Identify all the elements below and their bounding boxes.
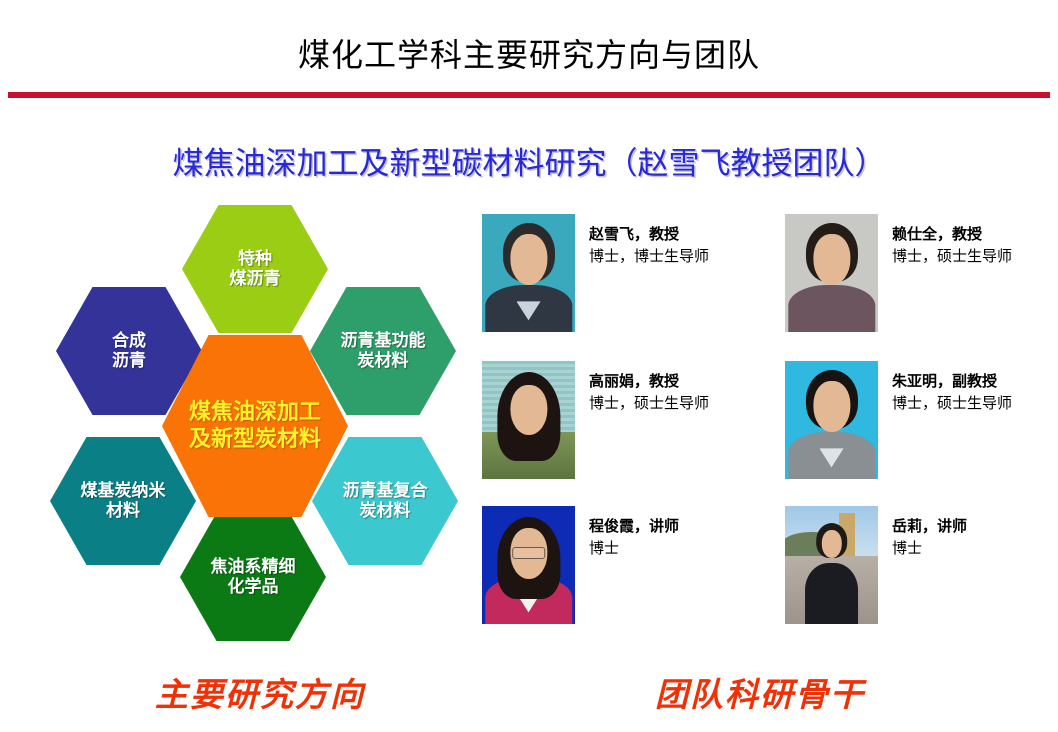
hex-branch-coal-carbon-nano[interactable]: 煤基炭纳米 材料: [50, 437, 196, 565]
caption-research-directions: 主要研究方向: [155, 668, 365, 716]
member-degree: 博士，硕士生导师: [589, 393, 709, 415]
hex-label-line1: 沥青基功能: [341, 331, 426, 351]
hex-label-line1: 合成: [112, 331, 146, 351]
team-member-text: 赖仕全，教授 博士，硕士生导师: [892, 214, 1012, 268]
member-name: 朱亚明，副教授: [892, 371, 1012, 393]
member-degree: 博士: [589, 538, 679, 560]
member-degree: 博士: [892, 538, 967, 560]
portrait-zhao-xuefei: [482, 214, 575, 332]
hex-label-line2: 煤沥青: [230, 269, 281, 289]
team-member-card[interactable]: 程俊霞，讲师 博士: [482, 506, 679, 624]
page-title: 煤化工学科主要研究方向与团队: [0, 30, 1058, 76]
member-degree: 博士，硕士生导师: [892, 246, 1012, 268]
hex-label-line1: 煤基炭纳米: [81, 481, 166, 501]
title-divider: [8, 92, 1050, 98]
hex-center-line2: 及新型炭材料: [189, 426, 321, 454]
team-member-text: 程俊霞，讲师 博士: [589, 506, 679, 560]
hex-label-line2: 沥青: [112, 351, 146, 371]
member-name: 高丽娟，教授: [589, 371, 709, 393]
team-member-card[interactable]: 高丽娟，教授 博士，硕士生导师: [482, 361, 709, 479]
hex-label-line2: 化学品: [228, 577, 279, 597]
member-degree: 博士，硕士生导师: [892, 393, 1012, 415]
portrait-zhu-yaming: [785, 361, 878, 479]
hex-branch-special-coal-pitch[interactable]: 特种 煤沥青: [182, 205, 328, 333]
hex-branch-pitch-composite-carbon[interactable]: 沥青基复合 炭材料: [312, 437, 458, 565]
member-name: 赵雪飞，教授: [589, 224, 709, 246]
team-member-text: 赵雪飞，教授 博士，博士生导师: [589, 214, 709, 268]
research-directions-diagram: 特种 煤沥青 沥青基功能 炭材料 沥青基复合 炭材料 焦油系精细 化学品 煤基炭…: [40, 205, 470, 645]
team-member-card[interactable]: 赖仕全，教授 博士，硕士生导师: [785, 214, 1012, 332]
hex-label-line1: 焦油系精细: [211, 557, 296, 577]
team-member-card[interactable]: 赵雪飞，教授 博士，博士生导师: [482, 214, 709, 332]
team-member-card[interactable]: 岳莉，讲师 博士: [785, 506, 967, 624]
team-member-card[interactable]: 朱亚明，副教授 博士，硕士生导师: [785, 361, 1012, 479]
hex-label-line2: 炭材料: [358, 351, 409, 371]
team-member-text: 朱亚明，副教授 博士，硕士生导师: [892, 361, 1012, 415]
team-member-text: 岳莉，讲师 博士: [892, 506, 967, 560]
portrait-gao-lijuan: [482, 361, 575, 479]
hex-label-line1: 沥青基复合: [343, 481, 428, 501]
hex-label-line1: 特种: [238, 249, 272, 269]
slide-subtitle: 煤焦油深加工及新型碳材料研究（赵雪飞教授团队）: [0, 138, 1058, 183]
portrait-yue-li: [785, 506, 878, 624]
hex-label-line2: 材料: [106, 501, 140, 521]
member-name: 程俊霞，讲师: [589, 516, 679, 538]
hex-label-line2: 炭材料: [360, 501, 411, 521]
hex-center-line1: 煤焦油深加工: [189, 399, 321, 427]
member-name: 岳莉，讲师: [892, 516, 967, 538]
caption-team-backbone: 团队科研骨干: [655, 668, 865, 716]
portrait-lai-shiquan: [785, 214, 878, 332]
hex-branch-tar-fine-chemicals[interactable]: 焦油系精细 化学品: [180, 513, 326, 641]
team-member-text: 高丽娟，教授 博士，硕士生导师: [589, 361, 709, 415]
member-name: 赖仕全，教授: [892, 224, 1012, 246]
portrait-cheng-junxia: [482, 506, 575, 624]
member-degree: 博士，博士生导师: [589, 246, 709, 268]
team-member-grid: 赵雪飞，教授 博士，博士生导师 赖仕全，教授 博士，硕士生导师 高丽娟，教授 博…: [478, 214, 1048, 644]
